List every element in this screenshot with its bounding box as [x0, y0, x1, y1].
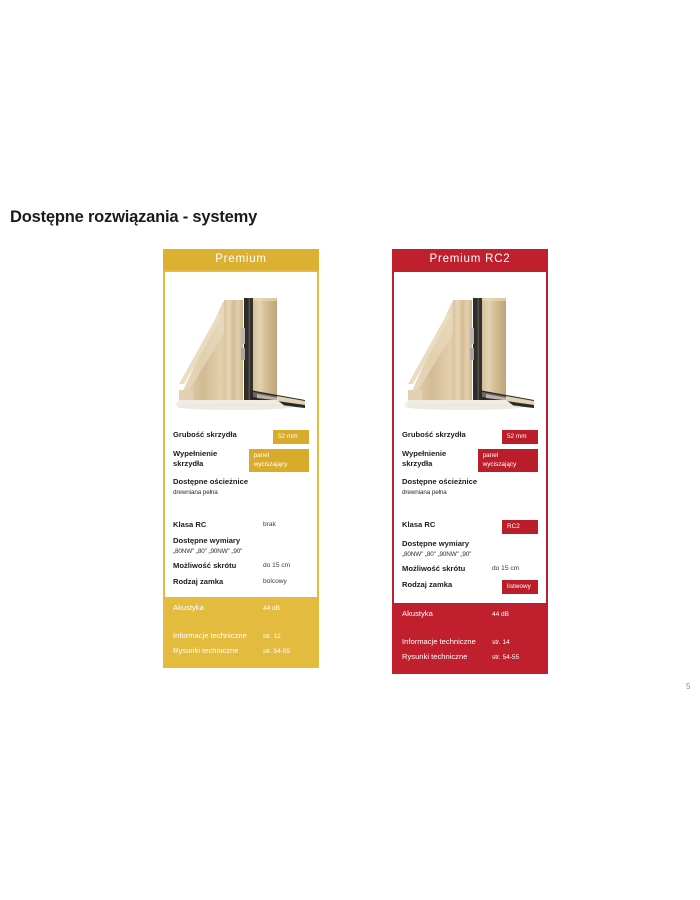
spec-label: Dostępne ościeżnice: [173, 477, 248, 487]
footer-value: 44 dB: [263, 603, 280, 615]
spec-value-shortening: do 15 cm: [263, 561, 309, 571]
spec-label-group: Dostępne wymiary „80NW" „80" „90NW" „90": [402, 539, 471, 559]
spec-row: Grubość skrzydła 52 mm: [173, 430, 309, 444]
page-number: 5: [686, 682, 690, 691]
spec-row: Dostępne ościeżnice drewniana pełna: [402, 477, 538, 497]
spec-row: Dostępne ościeżnice drewniana pełna: [173, 477, 309, 497]
footer-value: 44 dB: [492, 609, 509, 621]
spec-label-group: Dostępne ościeżnice drewniana pełna: [402, 477, 477, 497]
footer-row-acoustics: Akustyka 44 dB: [402, 608, 538, 621]
footer-label: Informacje techniczne: [173, 630, 263, 642]
spec-badge-lock: listwowy: [502, 580, 538, 594]
footer-row-tech-drawings[interactable]: Rysunki techniczne str. 54-55: [402, 651, 538, 664]
spec-label: Klasa RC: [173, 520, 206, 530]
footer-label: Informacje techniczne: [402, 636, 492, 648]
footer-row-tech-drawings[interactable]: Rysunki techniczne str. 54-55: [173, 645, 309, 658]
spec-row: Grubość skrzydła 52 mm: [402, 430, 538, 444]
spec-spacer: [173, 502, 309, 520]
product-card-premium-rc2: Premium RC2: [392, 249, 548, 674]
footer-row-tech-info[interactable]: Informacje techniczne str. 12: [173, 630, 309, 643]
spec-subtext: „80NW" „80" „90NW" „90": [402, 550, 471, 559]
spec-label: Wypełnienie skrzydła: [402, 449, 478, 469]
spec-row: Możliwość skrótu do 15 cm: [173, 561, 309, 572]
card-body-premium: Grubość skrzydła 52 mm Wypełnienie skrzy…: [163, 270, 319, 668]
spec-label: Grubość skrzydła: [173, 430, 237, 440]
spec-row: Klasa RC RC2: [402, 520, 538, 534]
spec-badge-filling: panel wyciszający: [478, 449, 538, 472]
spec-subtext: drewniana pełna: [173, 488, 248, 497]
spec-row: Rodzaj zamka listwowy: [402, 580, 538, 594]
footer-row-tech-info[interactable]: Informacje techniczne str. 14: [402, 636, 538, 649]
footer-value: str. 54-55: [492, 652, 519, 664]
footer-label: Rysunki techniczne: [402, 651, 492, 663]
card-body-premium-rc2: Grubość skrzydła 52 mm Wypełnienie skrzy…: [392, 270, 548, 674]
footer-spacer: [402, 623, 538, 636]
spec-label: Dostępne wymiary: [402, 539, 471, 549]
card-header-premium-rc2: Premium RC2: [392, 249, 548, 270]
spec-row: Dostępne wymiary „80NW" „80" „90NW" „90": [402, 539, 538, 559]
door-cutaway-icon: [165, 272, 317, 424]
spec-value-shortening: do 15 cm: [492, 564, 538, 574]
card-footer-premium: Akustyka 44 dB Informacje techniczne str…: [165, 597, 317, 668]
spec-badge-rc: RC2: [502, 520, 538, 534]
footer-label: Rysunki techniczne: [173, 645, 263, 657]
spec-row: Wypełnienie skrzydła panel wyciszający: [173, 449, 309, 472]
spec-value-rc: brak: [263, 520, 309, 530]
spec-label: Możliwość skrótu: [402, 564, 465, 574]
footer-label: Akustyka: [173, 602, 263, 614]
footer-value: str. 12: [263, 631, 281, 643]
spec-subtext: drewniana pełna: [402, 488, 477, 497]
footer-row-acoustics: Akustyka 44 dB: [173, 602, 309, 615]
spec-row: Dostępne wymiary „80NW" „80" „90NW" „90": [173, 536, 309, 556]
spec-label-group: Dostępne ościeżnice drewniana pełna: [173, 477, 248, 497]
spec-label: Możliwość skrótu: [173, 561, 236, 571]
spec-label: Wypełnienie skrzydła: [173, 449, 249, 469]
card-content-premium: Grubość skrzydła 52 mm Wypełnienie skrzy…: [165, 272, 317, 597]
spec-row: Możliwość skrótu do 15 cm: [402, 564, 538, 575]
card-footer-premium-rc2: Akustyka 44 dB Informacje techniczne str…: [394, 603, 546, 674]
spec-row: Klasa RC brak: [173, 520, 309, 531]
spec-label: Dostępne wymiary: [173, 536, 242, 546]
card-header-premium: Premium: [163, 249, 319, 270]
spec-label: Rodzaj zamka: [402, 580, 452, 590]
footer-label: Akustyka: [402, 608, 492, 620]
spec-list-premium: Grubość skrzydła 52 mm Wypełnienie skrzy…: [165, 424, 317, 597]
page-title: Dostępne rozwiązania - systemy: [10, 208, 257, 227]
spec-badge-filling: panel wyciszający: [249, 449, 309, 472]
footer-value: str. 14: [492, 637, 510, 649]
door-cutaway-icon: [394, 272, 546, 424]
spec-row: Wypełnienie skrzydła panel wyciszający: [402, 449, 538, 472]
spec-value-lock: bolcowy: [263, 577, 309, 587]
spec-list-premium-rc2: Grubość skrzydła 52 mm Wypełnienie skrzy…: [394, 424, 546, 603]
product-image-premium-rc2: [394, 272, 546, 424]
spec-badge-thickness: 52 mm: [502, 430, 538, 444]
card-content-premium-rc2: Grubość skrzydła 52 mm Wypełnienie skrzy…: [394, 272, 546, 603]
spec-badge-thickness: 52 mm: [273, 430, 309, 444]
spec-label: Rodzaj zamka: [173, 577, 223, 587]
spec-subtext: „80NW" „80" „90NW" „90": [173, 547, 242, 556]
footer-spacer: [173, 617, 309, 630]
spec-label: Grubość skrzydła: [402, 430, 466, 440]
product-card-premium: Premium: [163, 249, 319, 668]
footer-value: str. 54-55: [263, 646, 290, 658]
spec-spacer: [402, 502, 538, 520]
spec-label: Klasa RC: [402, 520, 435, 530]
spec-label: Dostępne ościeżnice: [402, 477, 477, 487]
product-image-premium: [165, 272, 317, 424]
spec-label-group: Dostępne wymiary „80NW" „80" „90NW" „90": [173, 536, 242, 556]
spec-row: Rodzaj zamka bolcowy: [173, 577, 309, 588]
